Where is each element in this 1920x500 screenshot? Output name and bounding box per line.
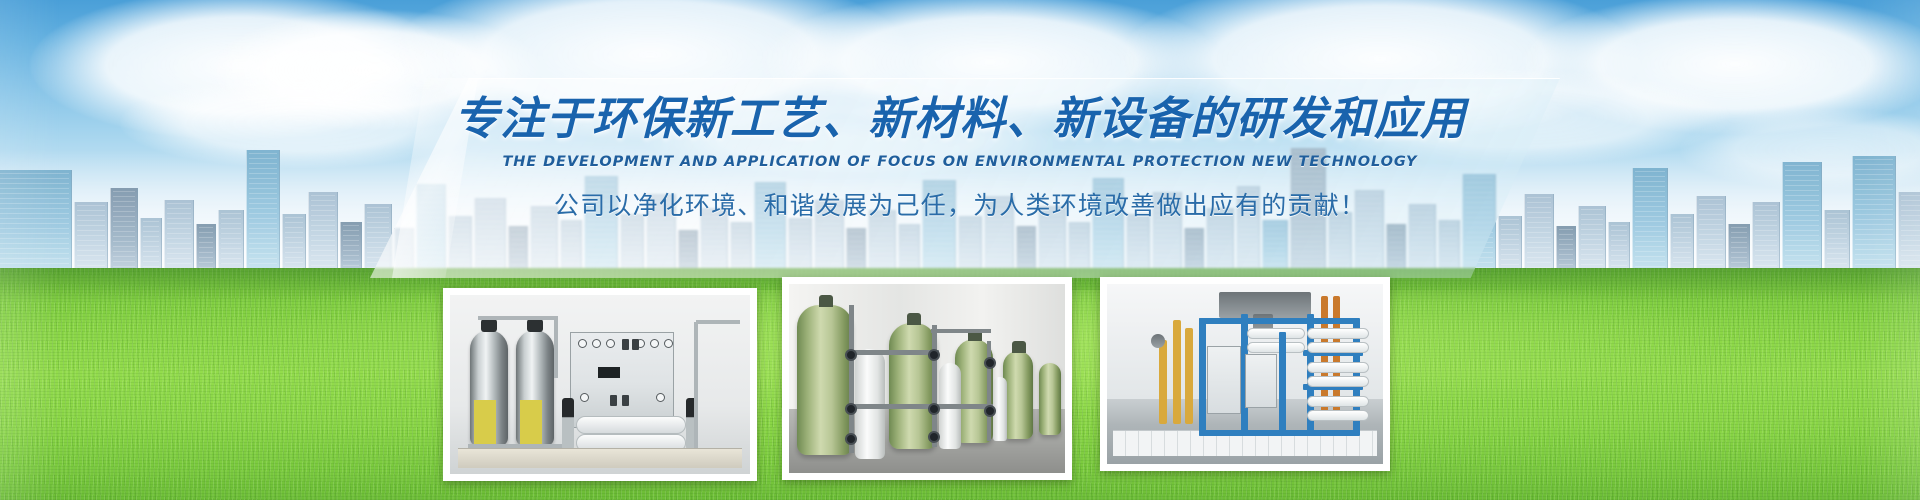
product-photo-stainless-steel-skid[interactable] <box>443 288 757 481</box>
product-photo-image <box>450 295 750 474</box>
hero-banner: 专注于环保新工艺、新材料、新设备的研发和应用 THE DEVELOPMENT A… <box>0 0 1920 500</box>
banner-text-block: 专注于环保新工艺、新材料、新设备的研发和应用 THE DEVELOPMENT A… <box>0 94 1920 222</box>
product-photo-ro-membrane-system[interactable] <box>1100 277 1390 471</box>
banner-subtitle-en: THE DEVELOPMENT AND APPLICATION OF FOCUS… <box>0 154 1920 170</box>
banner-headline: 专注于环保新工艺、新材料、新设备的研发和应用 <box>0 94 1920 144</box>
product-photo-image <box>1107 284 1383 464</box>
product-photo-image <box>789 284 1065 473</box>
product-photo-frp-tank-row[interactable] <box>782 277 1072 480</box>
banner-subtitle-cn: 公司以净化环境、和谐发展为己任，为人类环境改善做出应有的贡献！ <box>0 186 1920 222</box>
